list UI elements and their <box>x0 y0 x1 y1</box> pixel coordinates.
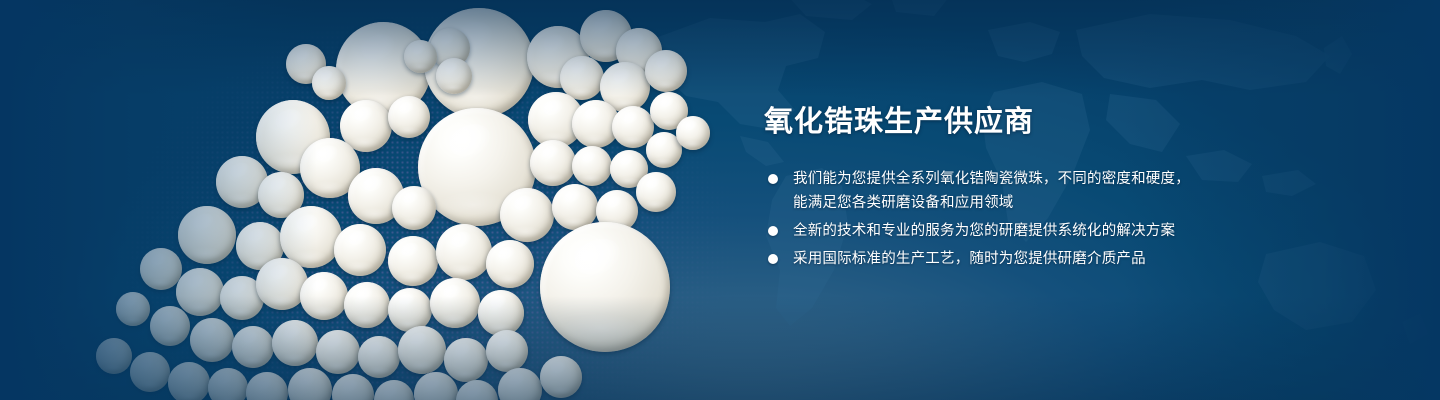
list-item-line1: 全新的技术和专业的服务为您的研磨提供系统化的解决方案 <box>793 223 1175 239</box>
hero-banner: 氧化锆珠生产供应商 我们能为您提供全系列氧化锆陶瓷微珠，不同的密度和硬度， 能满… <box>0 0 1440 400</box>
list-item: 我们能为您提供全系列氧化锆陶瓷微珠，不同的密度和硬度， 能满足您各类研磨设备和应… <box>764 167 1234 215</box>
banner-content: 氧化锆珠生产供应商 我们能为您提供全系列氧化锆陶瓷微珠，不同的密度和硬度， 能满… <box>764 104 1234 275</box>
list-item-line1: 采用国际标准的生产工艺，随时为您提供研磨介质产品 <box>793 251 1146 267</box>
banner-headline: 氧化锆珠生产供应商 <box>764 104 1234 141</box>
list-item: 全新的技术和专业的服务为您的研磨提供系统化的解决方案 <box>764 219 1234 243</box>
list-item-line1: 我们能为您提供全系列氧化锆陶瓷微珠，不同的密度和硬度， <box>793 171 1190 187</box>
feature-list: 我们能为您提供全系列氧化锆陶瓷微珠，不同的密度和硬度， 能满足您各类研磨设备和应… <box>764 167 1234 271</box>
list-item-line2: 能满足您各类研磨设备和应用领域 <box>793 191 1234 215</box>
bullet-dot-icon <box>768 174 778 184</box>
bullet-dot-icon <box>768 254 778 264</box>
bullet-dot-icon <box>768 226 778 236</box>
list-item: 采用国际标准的生产工艺，随时为您提供研磨介质产品 <box>764 247 1234 271</box>
